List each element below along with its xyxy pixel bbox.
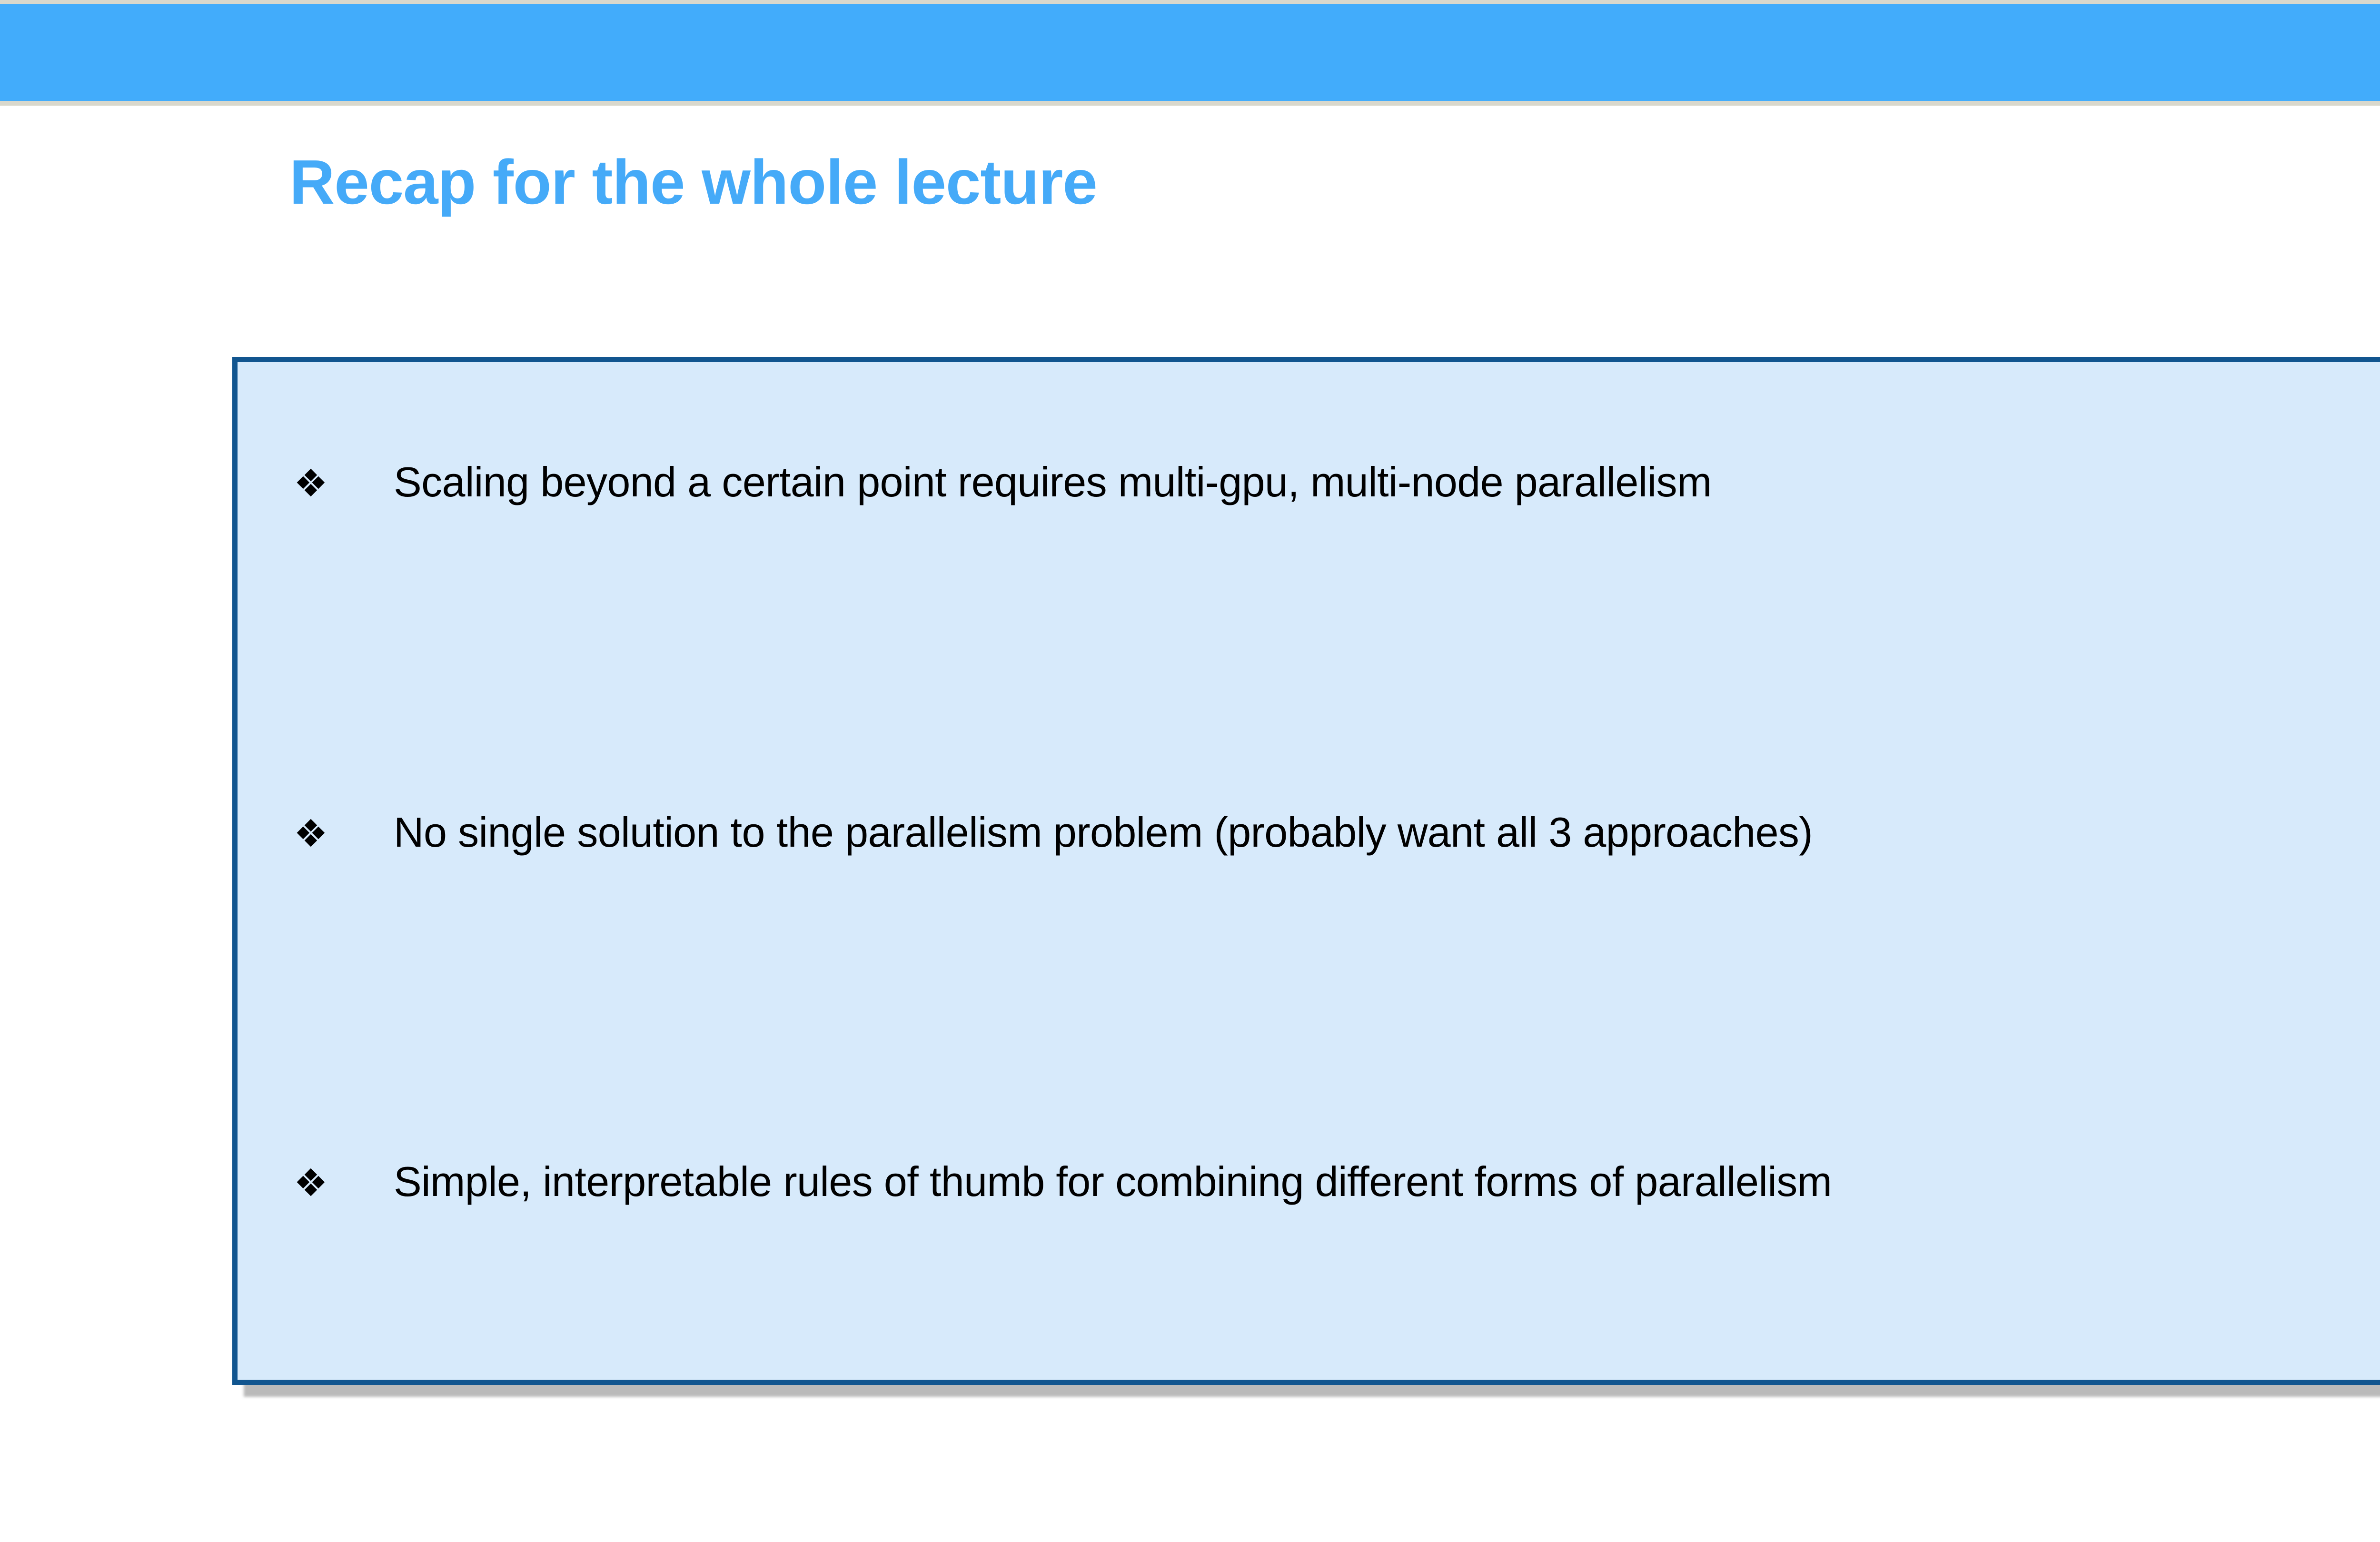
content-box: ❖ Scaling beyond a certain point require… [232, 357, 2380, 1385]
bullet-list: ❖ Scaling beyond a certain point require… [238, 362, 2380, 1380]
diamond-bullet-icon: ❖ [294, 1155, 394, 1212]
slide-top-banner [0, 4, 2380, 101]
page-title: Recap for the whole lecture [289, 137, 2380, 227]
list-item: ❖ Simple, interpretable rules of thumb f… [294, 1153, 2380, 1210]
diamond-bullet-icon: ❖ [294, 805, 394, 862]
bullet-text: No single solution to the parallelism pr… [394, 804, 1813, 861]
banner-bottom-edge-band [0, 101, 2380, 106]
bullet-text: Scaling beyond a certain point requires … [394, 454, 1712, 511]
banner-top-edge-band [0, 0, 2380, 4]
bullet-text: Simple, interpretable rules of thumb for… [394, 1153, 1832, 1210]
list-item: ❖ Scaling beyond a certain point require… [294, 454, 2380, 511]
diamond-bullet-icon: ❖ [294, 455, 394, 512]
list-item: ❖ No single solution to the parallelism … [294, 804, 2380, 861]
